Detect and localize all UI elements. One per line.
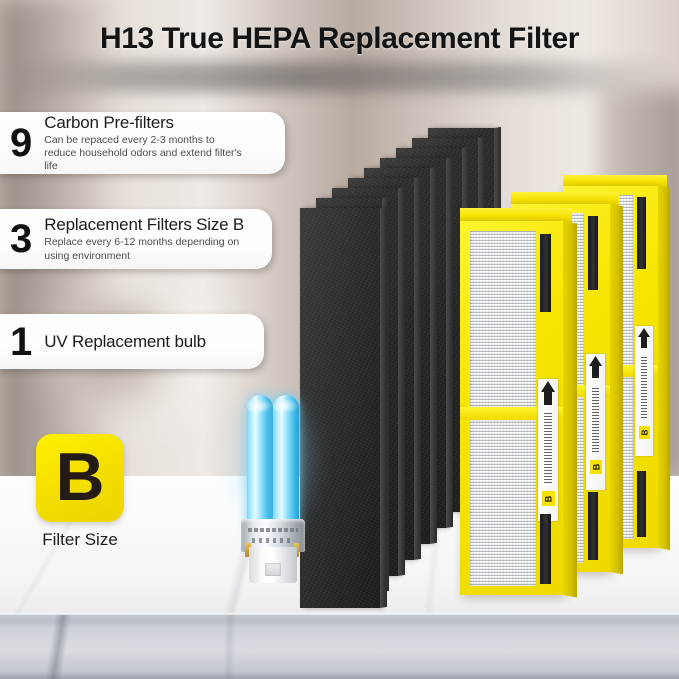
label-size-badge: B [639,426,650,439]
hepa-black-strip-bottom [540,514,551,584]
hepa-right-side [658,186,670,550]
feature-card-description: Can be repaced every 2-3 months to reduc… [44,134,249,173]
feature-card-heading: Replacement Filters Size B [44,215,249,234]
feature-card-body: Carbon Pre-filters Can be repaced every … [44,113,249,173]
uv-bulb-tube [273,395,299,530]
uv-tube-highlight [247,398,273,414]
page-title: H13 True HEPA Replacement Filter [0,22,679,56]
hepa-black-strip-bottom [637,471,646,537]
feature-card-heading: Carbon Pre-filters [44,113,249,132]
hepa-right-side [610,204,623,574]
filter-size-caption: Filter Size [36,530,124,550]
hepa-right-side [563,221,577,597]
feature-card-carbon-prefilters[interactable]: 9 Carbon Pre-filters Can be repaced ever… [0,112,285,174]
feature-card-description: Replace every 6-12 months depending on u… [44,236,249,262]
feature-card-body: UV Replacement bulb [44,332,206,351]
uv-bulb-print-line [252,538,292,543]
background-shelf-band [0,62,679,92]
hepa-black-strip-top [540,234,551,312]
uv-bulb-tube [247,395,273,530]
uv-bulb-plastic-base [249,547,297,583]
feature-card-uv-bulb[interactable]: 1 UV Replacement bulb [0,314,264,369]
label-text-lines [544,413,552,483]
label-arrow-head-icon [541,381,555,392]
hepa-mesh-upper [470,231,536,407]
feature-card-count: 3 [10,219,32,259]
label-text-lines [592,386,599,452]
hepa-black-strip-top [637,197,646,269]
hepa-filter-label: B [635,326,653,456]
feature-card-body: Replacement Filters Size B Replace every… [44,215,249,262]
label-arrow-head-icon [638,328,650,337]
filter-size-badge-box: B [36,434,124,522]
feature-card-count: 1 [10,322,32,362]
hepa-mesh-lower [470,420,536,586]
product-infographic-canvas: H13 True HEPA Replacement Filter B [0,0,679,679]
filter-size-letter: B [55,443,104,511]
label-text-lines [641,356,647,418]
label-size-badge: B [542,491,555,506]
hepa-filter-label: B [538,379,558,521]
uv-bulb-print-line [248,528,298,532]
feature-card-replacement-filters[interactable]: 3 Replacement Filters Size B Replace eve… [0,209,272,269]
hepa-filter-panel: B [452,208,592,598]
filter-size-badge: B Filter Size [36,434,136,550]
uv-bulb [235,395,309,583]
counter-front-edge [0,615,679,679]
uv-bulb-base-notch [265,563,281,576]
feature-card-heading: UV Replacement bulb [44,332,206,351]
uv-tube-highlight [273,398,299,414]
feature-card-count: 9 [10,123,32,163]
